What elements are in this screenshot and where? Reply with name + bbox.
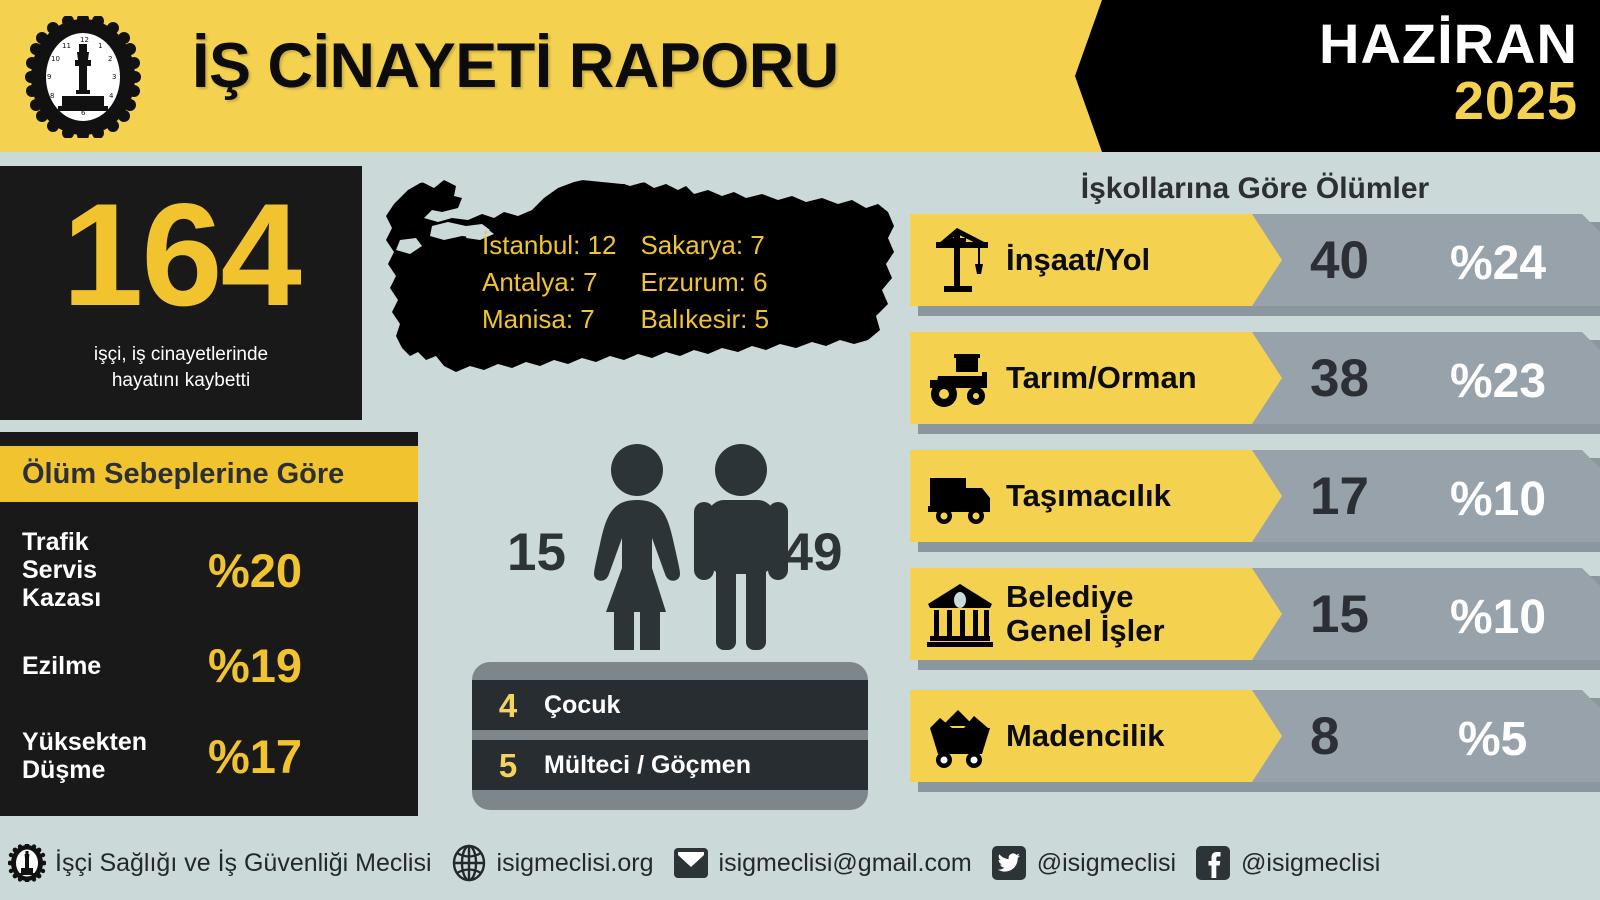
sector-label: İnşaat/Yol — [1006, 214, 1150, 306]
cause-label-line-1: Yüksekten — [22, 728, 208, 756]
total-deaths-number: 164 — [0, 182, 362, 328]
svg-text:8: 8 — [50, 92, 54, 100]
footer-org: İşçi Sağlığı ve İş Güvenliği Meclisi — [8, 844, 432, 882]
sectors-title: İşkollarına Göre Ölümler — [910, 172, 1600, 206]
total-deaths-box: 164 işçi, iş cinayetlerinde hayatını kay… — [0, 166, 362, 420]
facebook-icon — [1194, 844, 1232, 882]
sector-label: Tarım/Orman — [1006, 332, 1197, 424]
turkey-map-block: İstanbul: 12 Antalya: 7 Manisa: 7 Sakary… — [382, 168, 910, 390]
footer-email-text: isigmeclisi@gmail.com — [719, 849, 972, 878]
special-groups-panel: 4 Çocuk 5 Mülteci / Göçmen — [472, 662, 868, 810]
sector-label: Belediye Genel İşler — [1006, 568, 1165, 660]
gear-clocktower-logo-icon — [8, 844, 46, 882]
city-list: İstanbul: 12 Antalya: 7 Manisa: 7 Sakary… — [482, 230, 852, 335]
city-item: Balıkesir: 5 — [640, 304, 769, 335]
sector-count: 8 — [1310, 690, 1339, 782]
sector-label: Madencilik — [1006, 690, 1165, 782]
special-group-row: 4 Çocuk — [472, 680, 868, 730]
page-title: İŞ CİNAYETİ RAPORU — [192, 30, 839, 102]
report-month: HAZİRAN — [1319, 16, 1578, 72]
cause-percent: %17 — [208, 733, 302, 780]
special-group-count: 5 — [472, 749, 544, 782]
footer-facebook[interactable]: @isigmeclisi — [1194, 844, 1380, 882]
special-group-label: Mülteci / Göçmen — [544, 751, 751, 780]
cause-label-line-2: Servis — [22, 556, 208, 584]
mine-cart-icon — [924, 700, 996, 772]
svg-text:4: 4 — [109, 92, 114, 100]
gender-breakdown: 15 149 — [470, 442, 870, 654]
cause-label: Ezilme — [0, 652, 208, 680]
sector-bar: Tarım/Orman 38 %23 — [910, 332, 1600, 430]
infographic-root: 12 1110 98 76 54 321 İŞ CİNAY — [0, 0, 1600, 900]
city-column-right: Sakarya: 7 Erzurum: 6 Balıkesir: 5 — [640, 230, 769, 335]
special-group-count: 4 — [472, 689, 544, 722]
causes-panel: Ölüm Sebeplerine Göre Trafik Servis Kaza… — [0, 432, 418, 816]
sector-percent: %5 — [1458, 694, 1527, 786]
sector-percent: %10 — [1450, 572, 1546, 664]
mail-icon — [672, 844, 710, 882]
city-item: Erzurum: 6 — [640, 267, 769, 298]
cause-label: Yüksekten Düşme — [0, 728, 208, 784]
municipal-building-icon — [924, 578, 996, 650]
causes-title: Ölüm Sebeplerine Göre — [0, 458, 344, 491]
cause-label-line-3: Kazası — [22, 584, 208, 612]
sector-percent: %23 — [1450, 336, 1546, 428]
footer: İşçi Sağlığı ve İş Güvenliği Meclisi isi… — [0, 826, 1600, 900]
svg-text:9: 9 — [47, 73, 51, 81]
sector-label: Taşımacılık — [1006, 450, 1171, 542]
footer-email[interactable]: isigmeclisi@gmail.com — [672, 844, 972, 882]
svg-text:3: 3 — [112, 73, 116, 81]
footer-twitter[interactable]: @isigmeclisi — [990, 844, 1176, 882]
causes-title-bar: Ölüm Sebeplerine Göre — [0, 446, 418, 502]
cause-percent: %20 — [208, 547, 302, 594]
sector-bar: İnşaat/Yol 40 %24 — [910, 214, 1600, 312]
total-deaths-caption: işçi, iş cinayetlerinde hayatını kaybett… — [0, 342, 362, 393]
special-group-label: Çocuk — [544, 691, 620, 720]
header: 12 1110 98 76 54 321 İŞ CİNAY — [0, 0, 1600, 152]
male-count: 149 — [754, 526, 884, 579]
crane-icon — [924, 224, 996, 296]
sector-bar: Belediye Genel İşler 15 %10 — [910, 568, 1600, 666]
svg-text:10: 10 — [51, 55, 60, 63]
sector-bar: Madencilik 8 %5 — [910, 690, 1600, 788]
city-column-left: İstanbul: 12 Antalya: 7 Manisa: 7 — [482, 230, 616, 335]
cause-row: Ezilme %19 — [0, 642, 418, 689]
caption-line-1: işçi, iş cinayetlerinde — [0, 342, 362, 368]
tractor-icon — [924, 342, 996, 414]
globe-icon — [450, 844, 488, 882]
cause-row: Yüksekten Düşme %17 — [0, 728, 418, 784]
svg-text:12: 12 — [80, 36, 89, 44]
truck-icon — [924, 460, 996, 532]
female-pictogram-icon — [582, 442, 692, 650]
cause-label-line-2: Düşme — [22, 756, 208, 784]
caption-line-2: hayatını kaybetti — [0, 368, 362, 394]
female-count: 15 — [470, 526, 566, 579]
gear-clocktower-logo-icon: 12 1110 98 76 54 321 — [22, 16, 144, 138]
sector-count: 15 — [1310, 568, 1369, 660]
footer-website[interactable]: isigmeclisi.org — [450, 844, 654, 882]
twitter-icon — [990, 844, 1028, 882]
sector-bar: Taşımacılık 17 %10 — [910, 450, 1600, 548]
footer-website-text: isigmeclisi.org — [497, 849, 654, 878]
svg-text:1: 1 — [98, 42, 102, 50]
report-year: 2025 — [1454, 74, 1578, 128]
special-group-row: 5 Mülteci / Göçmen — [472, 740, 868, 790]
footer-org-name: İşçi Sağlığı ve İş Güvenliği Meclisi — [55, 849, 432, 878]
city-item: Manisa: 7 — [482, 304, 616, 335]
cause-label-line-1: Trafik — [22, 528, 208, 556]
sector-percent: %10 — [1450, 454, 1546, 546]
sector-count: 17 — [1310, 450, 1369, 542]
footer-twitter-handle: @isigmeclisi — [1037, 849, 1176, 878]
svg-text:11: 11 — [62, 42, 71, 50]
city-item: İstanbul: 12 — [482, 230, 616, 261]
city-item: Antalya: 7 — [482, 267, 616, 298]
sector-label-line-1: Belediye — [1006, 580, 1165, 614]
footer-facebook-handle: @isigmeclisi — [1241, 849, 1380, 878]
sector-count: 38 — [1310, 332, 1369, 424]
cause-row: Trafik Servis Kazası %20 — [0, 528, 418, 612]
sector-label-line-2: Genel İşler — [1006, 614, 1165, 648]
sector-percent: %24 — [1450, 218, 1546, 310]
cause-percent: %19 — [208, 642, 302, 689]
cause-label: Trafik Servis Kazası — [0, 528, 208, 612]
svg-text:2: 2 — [108, 55, 112, 63]
city-item: Sakarya: 7 — [640, 230, 769, 261]
sector-count: 40 — [1310, 214, 1369, 306]
